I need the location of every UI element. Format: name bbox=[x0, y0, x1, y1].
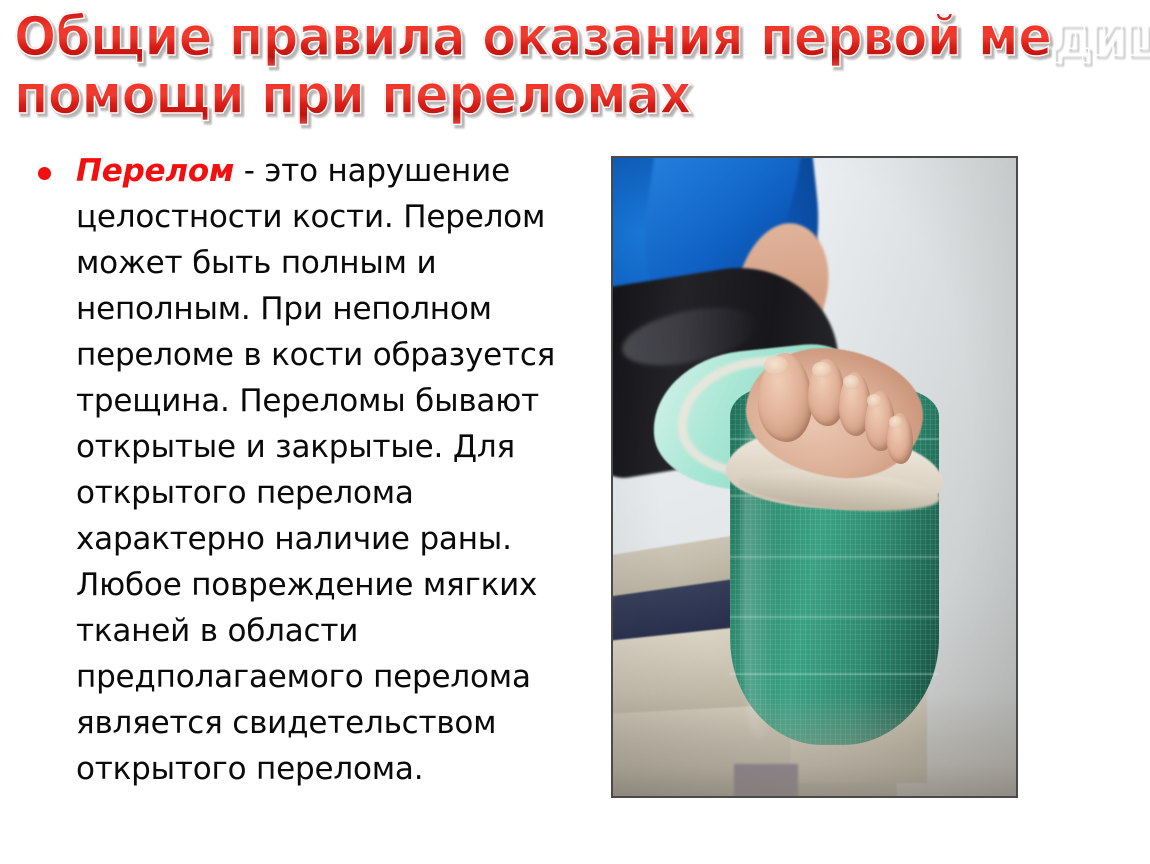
content-area: Перелом - это нарушение целостности кост… bbox=[0, 148, 600, 848]
keyword-perelom: Перелом bbox=[76, 153, 234, 189]
photo-frame bbox=[611, 156, 1018, 798]
definition-paragraph: Перелом - это нарушение целостности кост… bbox=[76, 148, 588, 792]
title-line-1: Общие правила оказания первой медицинско… bbox=[14, 8, 1054, 66]
bullet-marker-icon bbox=[38, 167, 51, 180]
slide-title: Общие правила оказания первой медицинско… bbox=[14, 8, 1144, 130]
photo-vignette bbox=[613, 158, 1016, 796]
photo-leg-in-cast bbox=[613, 158, 1016, 796]
bullet-list-item: Перелом - это нарушение целостности кост… bbox=[0, 148, 600, 792]
definition-text: - это нарушение целостности кости. Перел… bbox=[76, 153, 555, 787]
slide: Общие правила оказания первой медицинско… bbox=[0, 0, 1150, 864]
title-line-2: помощи при переломах bbox=[14, 66, 1054, 124]
